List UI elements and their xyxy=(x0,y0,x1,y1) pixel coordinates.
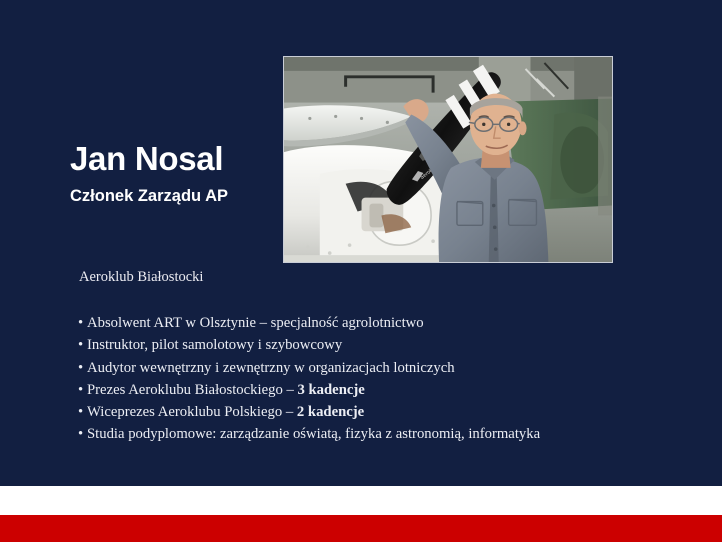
list-item-text: Studia podyplomowe: zarządzanie oświatą,… xyxy=(87,426,540,442)
list-item-emphasis: 2 kadencje xyxy=(297,404,364,420)
footer-red-band xyxy=(0,515,722,542)
footer-white-band xyxy=(0,486,722,515)
list-item-text: Prezes Aeroklubu Białostockiego – xyxy=(87,382,297,398)
bullet-icon: • xyxy=(78,423,87,445)
list-item-text: Absolwent ART w Olsztynie – specjalność … xyxy=(87,315,424,331)
list-item-text: Instruktor, pilot samolotowy i szybowcow… xyxy=(87,337,342,353)
list-item: •Prezes Aeroklubu Białostockiego – 3 kad… xyxy=(78,379,638,401)
bullet-icon: • xyxy=(78,401,87,423)
slide: Jan Nosal Członek Zarządu AP Aeroklub Bi… xyxy=(0,0,722,542)
page-title: Jan Nosal xyxy=(70,141,223,177)
list-item-text: Wiceprezes Aeroklubu Polskiego – xyxy=(87,404,297,420)
role-subtitle: Członek Zarządu AP xyxy=(70,186,228,206)
bullet-icon: • xyxy=(78,357,87,379)
portrait-photo: aeroklub xyxy=(283,56,613,263)
list-item-text: Audytor wewnętrzny i zewnętrzny w organi… xyxy=(87,360,455,376)
list-item-emphasis: 3 kadencje xyxy=(297,382,364,398)
photo-illustration: aeroklub xyxy=(284,57,612,262)
bullet-icon: • xyxy=(78,379,87,401)
list-item: •Audytor wewnętrzny i zewnętrzny w organ… xyxy=(78,357,638,379)
list-item: •Instruktor, pilot samolotowy i szybowco… xyxy=(78,334,638,356)
bullet-icon: • xyxy=(78,334,87,356)
bullet-icon: • xyxy=(78,312,87,334)
organization-label: Aeroklub Białostocki xyxy=(79,268,203,286)
list-item: •Studia podyplomowe: zarządzanie oświatą… xyxy=(78,423,638,445)
credentials-list: •Absolwent ART w Olsztynie – specjalność… xyxy=(78,312,638,446)
list-item: •Wiceprezes Aeroklubu Polskiego – 2 kade… xyxy=(78,401,638,423)
list-item: •Absolwent ART w Olsztynie – specjalność… xyxy=(78,312,638,334)
